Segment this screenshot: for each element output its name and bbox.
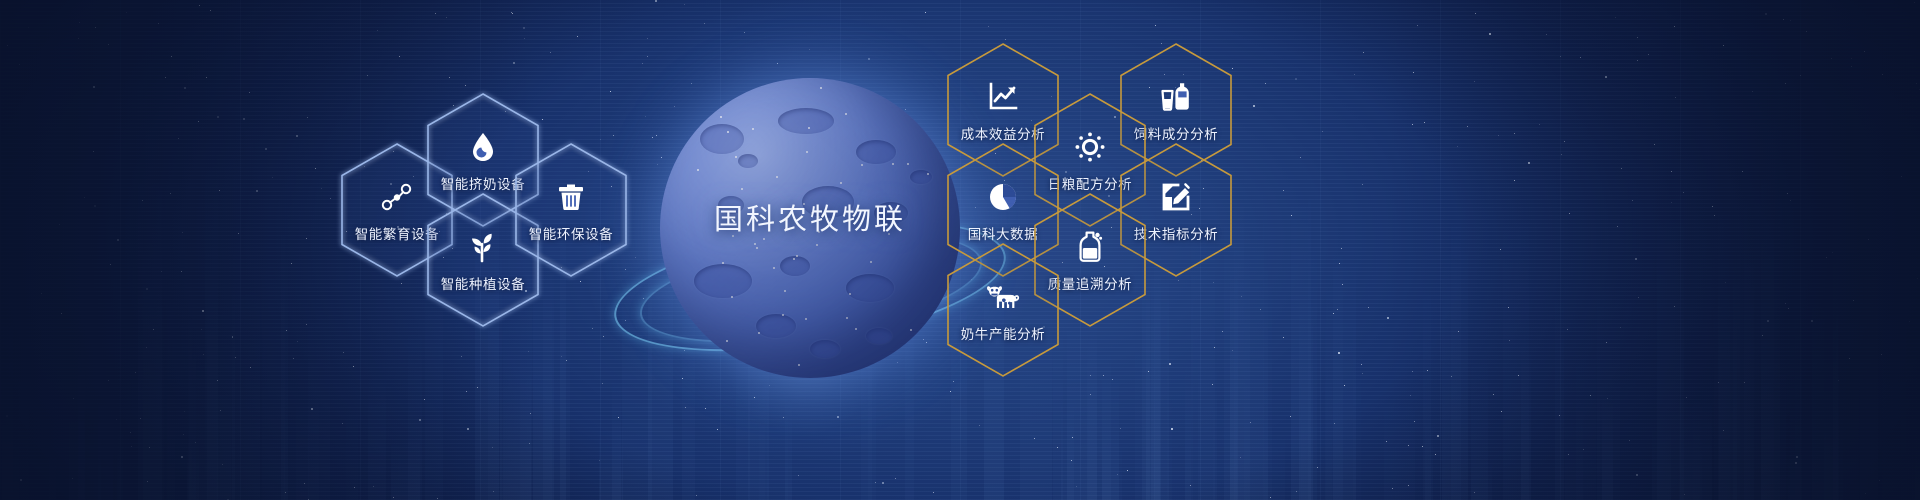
planet-group: 国科农牧物联 [660,78,960,378]
nodes-icon [377,177,417,217]
hex-tile-label: 国科大数据 [968,223,1039,243]
page-title: 国科农牧物联 [620,196,1000,238]
milk-glass-icon [1156,77,1196,117]
hex-tile-trash[interactable]: 智能环保设备 [512,142,630,278]
hex-tile-label: 智能环保设备 [529,223,614,243]
droplet-icon [463,127,503,167]
sun-icon [1070,127,1110,167]
trash-icon [551,177,591,217]
pie-chart-icon [983,177,1023,217]
banner-stage: 国科农牧物联 智能繁育设备智能挤奶设备智能种植设备智能环保设备成本效益分析饲料成… [0,0,1920,500]
hex-tile-label: 奶牛产能分析 [961,323,1046,343]
cow-icon [983,277,1023,317]
edit-note-icon [1156,177,1196,217]
line-chart-icon [983,77,1023,117]
hex-tile-cow[interactable]: 奶牛产能分析 [944,242,1062,378]
plant-icon [463,227,503,267]
milk-bottle-icon [1070,227,1110,267]
